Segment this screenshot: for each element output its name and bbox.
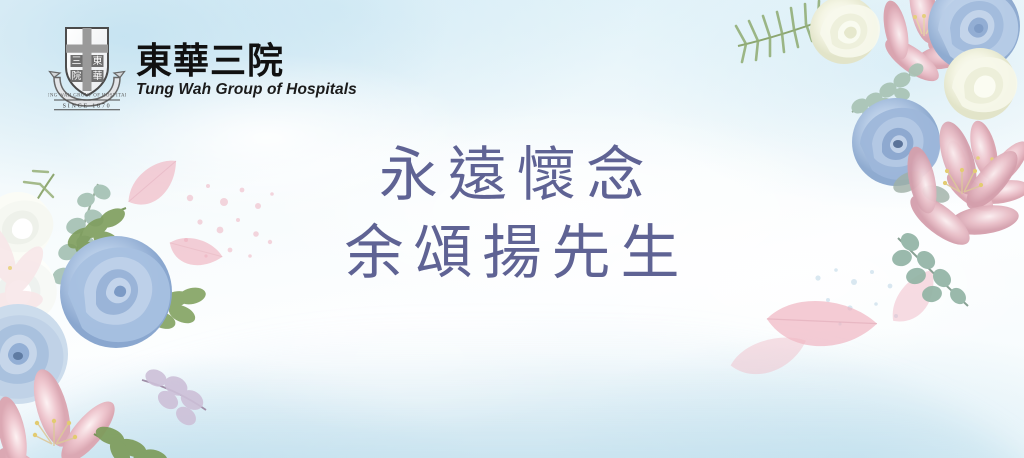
shield-crest-icon: 三 東 院 華 TUNG WAH GROUP OF HOSPITALS SINC… <box>48 22 126 116</box>
svg-text:東: 東 <box>93 54 103 67</box>
wordmark-english: Tung Wah Group of Hospitals <box>136 81 357 99</box>
svg-text:院: 院 <box>72 69 82 82</box>
logo[interactable]: 三 東 院 華 TUNG WAH GROUP OF HOSPITALS SINC… <box>48 22 357 116</box>
svg-text:華: 華 <box>93 70 103 82</box>
crest-banner-text: TUNG WAH GROUP OF HOSPITALS <box>48 93 126 98</box>
svg-text:東華三院: 東華三院 <box>136 40 284 82</box>
wordmark: 東華三院 Tung Wah Group of Hospitals <box>136 38 357 99</box>
svg-text:三: 三 <box>72 56 82 67</box>
memorial-banner: 三 東 院 華 TUNG WAH GROUP OF HOSPITALS SINC… <box>0 0 1024 458</box>
crest-since-text: SINCE 1870 <box>63 104 112 110</box>
wordmark-chinese: 東華三院 <box>136 38 357 80</box>
